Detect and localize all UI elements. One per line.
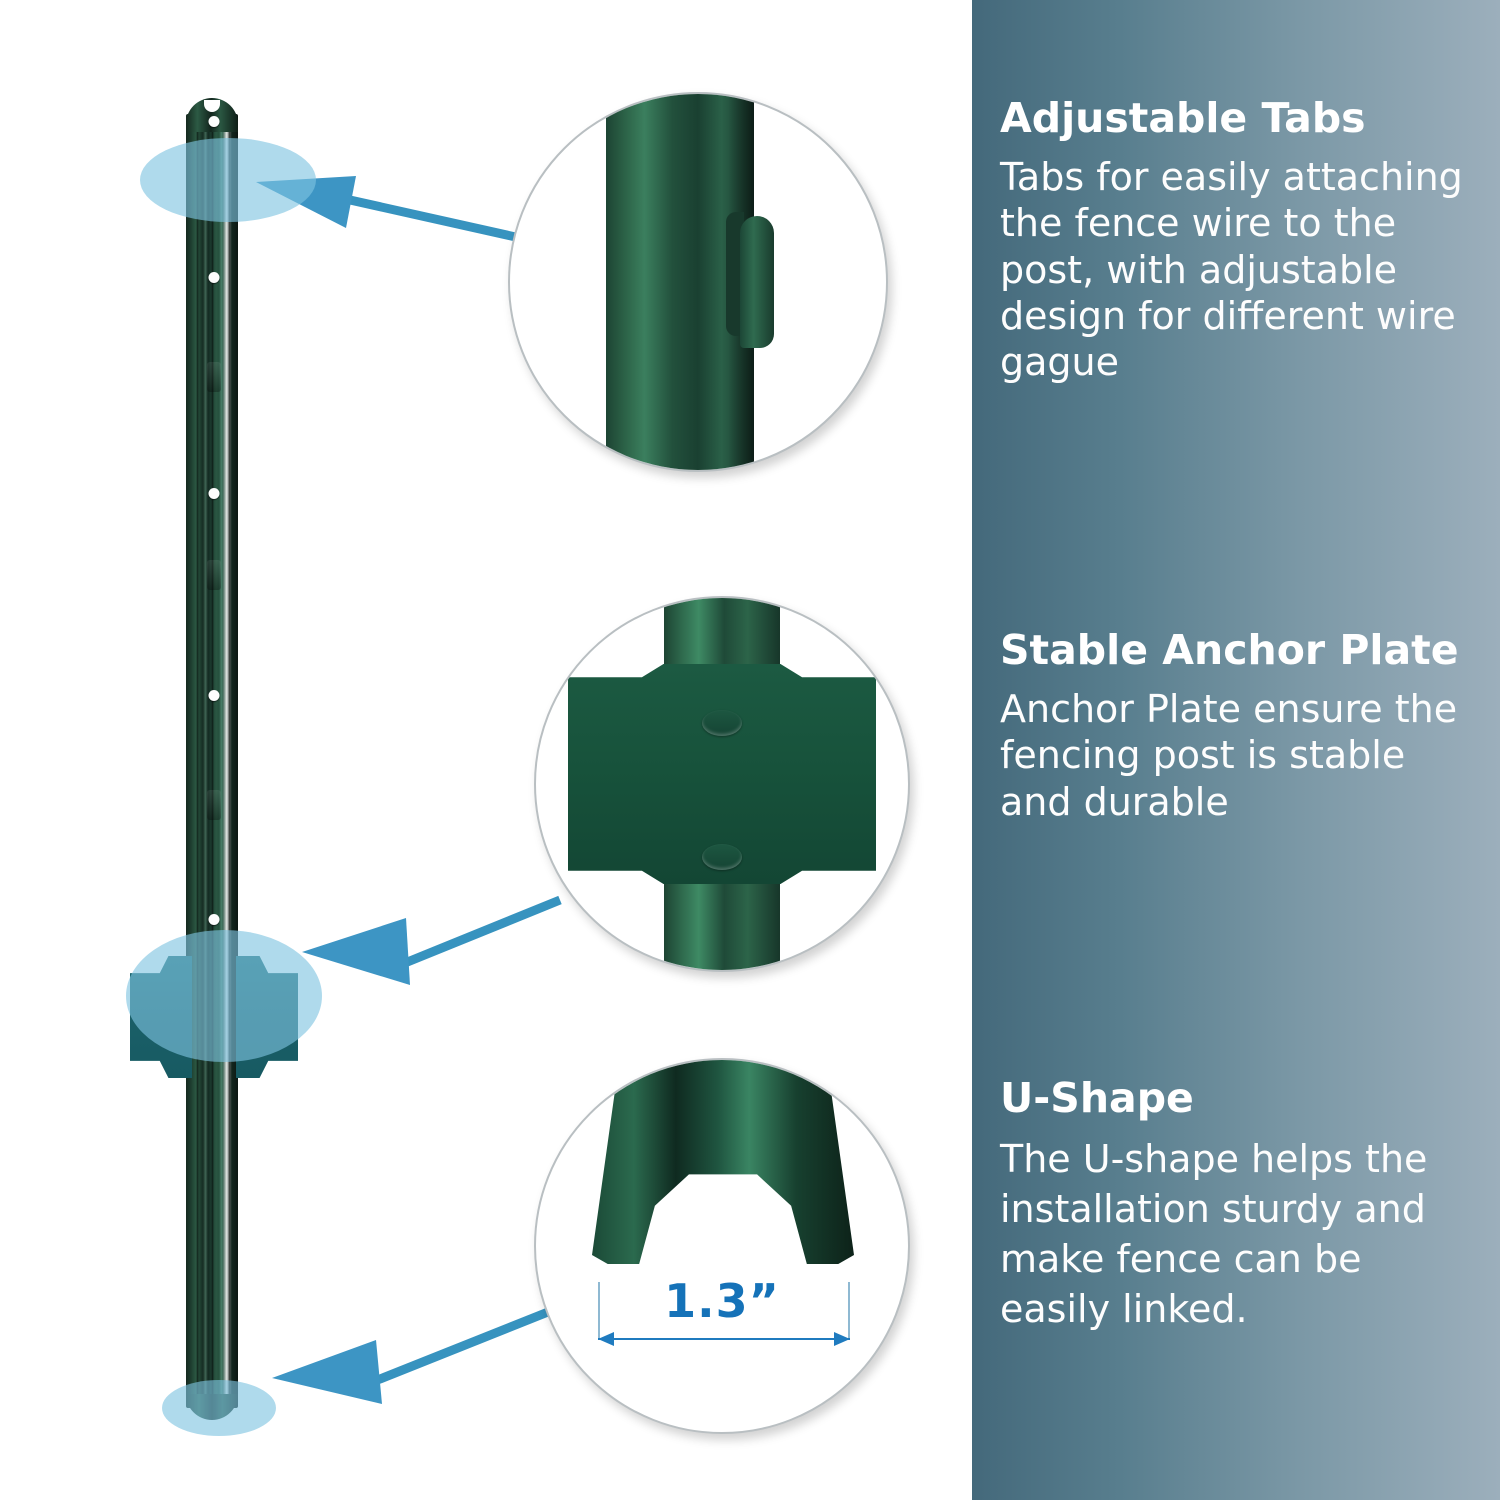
post-tab bbox=[207, 560, 221, 590]
detail-circle-adjustable-tabs bbox=[508, 92, 888, 472]
dimension-arrow-left bbox=[598, 1332, 614, 1346]
feature-body: Tabs for easily attaching the fence wire… bbox=[1000, 154, 1478, 386]
detail-circle-u-shape: 1.3” bbox=[534, 1058, 910, 1434]
dimension-line bbox=[598, 1338, 850, 1340]
feature-block-u-shape: U-Shape The U-shape helps the installati… bbox=[1000, 1076, 1478, 1335]
post-tab bbox=[207, 790, 221, 820]
post-hole bbox=[209, 690, 220, 701]
dimension-arrow-right bbox=[834, 1332, 850, 1346]
highlight-ellipse-bottom bbox=[162, 1380, 276, 1436]
highlight-ellipse-anchor bbox=[126, 930, 322, 1062]
closeup-rivet-upper bbox=[702, 710, 742, 736]
dimension-label: 1.3” bbox=[536, 1274, 908, 1328]
closeup-adjustable-tab bbox=[740, 216, 774, 348]
post-groove-left bbox=[196, 114, 199, 1408]
post-tab bbox=[207, 362, 221, 392]
feature-title: Stable Anchor Plate bbox=[1000, 628, 1478, 674]
post-sheen-left bbox=[203, 114, 208, 1408]
post-hole bbox=[209, 488, 220, 499]
post-groove-center bbox=[211, 114, 214, 1408]
feature-title: U-Shape bbox=[1000, 1076, 1478, 1122]
post-hole bbox=[209, 272, 220, 283]
detail-circle-anchor-plate bbox=[534, 596, 910, 972]
feature-body: Anchor Plate ensure the fencing post is … bbox=[1000, 686, 1478, 825]
callout-arrow-ushape bbox=[272, 1312, 548, 1404]
post-body bbox=[186, 114, 238, 1408]
closeup-u-cross-section bbox=[592, 1058, 854, 1264]
feature-block-stable-anchor-plate: Stable Anchor Plate Anchor Plate ensure … bbox=[1000, 628, 1478, 825]
post-sheen-right bbox=[219, 114, 224, 1408]
feature-block-adjustable-tabs: Adjustable Tabs Tabs for easily attachin… bbox=[1000, 96, 1478, 386]
highlight-ellipse-top bbox=[140, 138, 316, 222]
feature-text-panel: Adjustable Tabs Tabs for easily attachin… bbox=[972, 0, 1500, 1500]
closeup-rivet-lower bbox=[702, 844, 742, 870]
feature-body: The U-shape helps the installation sturd… bbox=[1000, 1134, 1478, 1335]
fence-post bbox=[178, 90, 250, 1420]
post-hole bbox=[209, 116, 220, 127]
post-hole bbox=[209, 914, 220, 925]
callout-arrow-anchor bbox=[302, 900, 560, 985]
post-groove-right bbox=[228, 114, 231, 1408]
product-infographic: 1.3” Adjustable Tabs Tabs for easily att… bbox=[0, 0, 1500, 1500]
feature-title: Adjustable Tabs bbox=[1000, 96, 1478, 142]
post-top-notch bbox=[204, 100, 220, 112]
product-illustration-area: 1.3” bbox=[0, 0, 972, 1500]
